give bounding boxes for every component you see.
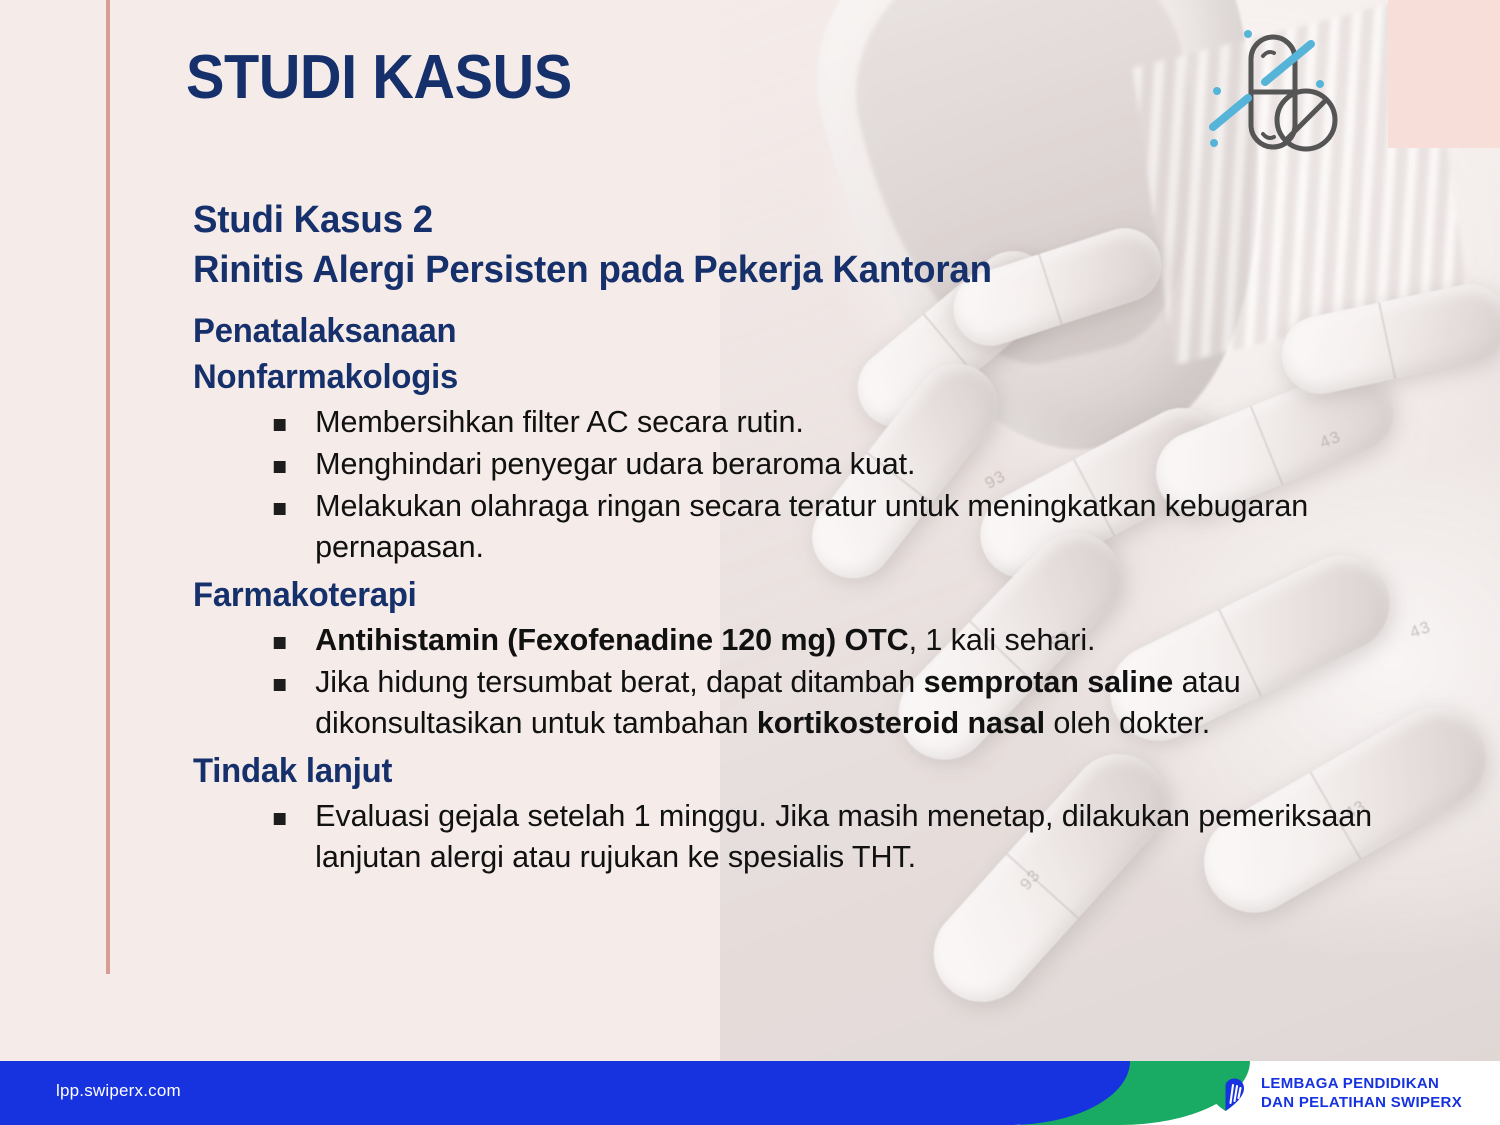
capsule-and-tablet-icon [1208,22,1373,167]
list-item: Menghindari penyegar udara beraroma kuat… [193,444,1405,484]
list-item-text: , 1 kali sehari. [909,622,1096,657]
list-item: Antihistamin (Fexofenadine 120 mg) OTC, … [193,620,1405,660]
case-label: Studi Kasus 2 [193,195,1380,245]
list-item-text: Evaluasi gejala setelah 1 minggu. Jika m… [315,798,1372,873]
brand-line-2: DAN PELATIHAN SWIPERX [1261,1094,1462,1113]
left-accent-rule [106,0,110,974]
slide-canvas: 93 43 93 43 93 43 [0,0,1500,1125]
case-title: Rinitis Alergi Persisten pada Pekerja Ka… [193,245,1380,295]
square-bullet-icon [274,813,286,825]
list-item: Membersihkan filter AC secara rutin. [193,402,1405,442]
square-bullet-icon [274,503,286,515]
list-item: Jika hidung tersumbat berat, dapat ditam… [193,662,1405,743]
section-heading-nonfarmakologis: Nonfarmakologis [193,355,1380,400]
list-item-text: Jika hidung tersumbat berat, dapat ditam… [315,664,923,699]
slide-footer: lpp.swiperx.com LEMBAGA PENDIDIKAN DAN P… [0,1061,1500,1125]
square-bullet-icon [274,637,286,649]
footer-url[interactable]: lpp.swiperx.com [56,1081,181,1101]
bullet-list-tindak-lanjut: Evaluasi gejala setelah 1 minggu. Jika m… [193,796,1423,877]
list-item: Evaluasi gejala setelah 1 minggu. Jika m… [193,796,1405,877]
section-heading-management: Penatalaksanaan [193,309,1380,354]
list-item-text: Melakukan olahraga ringan secara teratur… [315,488,1308,563]
list-item-emphasis: kortikosteroid nasal [757,705,1045,740]
brand-text: LEMBAGA PENDIDIKAN DAN PELATIHAN SWIPERX [1261,1075,1462,1113]
square-bullet-icon [274,419,286,431]
list-item-text: Membersihkan filter AC secara rutin. [315,404,804,439]
brand-line-1: LEMBAGA PENDIDIKAN [1261,1075,1462,1094]
page-title: STUDI KASUS [186,42,572,113]
section-heading-farmakoterapi: Farmakoterapi [193,573,1380,618]
list-item-emphasis: Antihistamin (Fexofenadine 120 mg) OTC [315,622,908,657]
swiperx-heart-logo-icon [1204,1076,1250,1112]
list-item-emphasis: semprotan saline [924,664,1174,699]
slide-body: Studi Kasus 2 Rinitis Alergi Persisten p… [193,195,1423,877]
brand-logo: LEMBAGA PENDIDIKAN DAN PELATIHAN SWIPERX [1204,1073,1462,1115]
list-item-text: oleh dokter. [1045,705,1210,740]
pink-accent-block [1388,0,1500,148]
square-bullet-icon [274,679,286,691]
square-bullet-icon [274,461,286,473]
section-heading-tindak-lanjut: Tindak lanjut [193,749,1380,794]
bullet-list-farmakoterapi: Antihistamin (Fexofenadine 120 mg) OTC, … [193,620,1423,743]
bullet-list-nonfarmakologis: Membersihkan filter AC secara rutin. Men… [193,402,1423,567]
list-item-text: Menghindari penyegar udara beraroma kuat… [315,446,915,481]
list-item: Melakukan olahraga ringan secara teratur… [193,486,1405,567]
